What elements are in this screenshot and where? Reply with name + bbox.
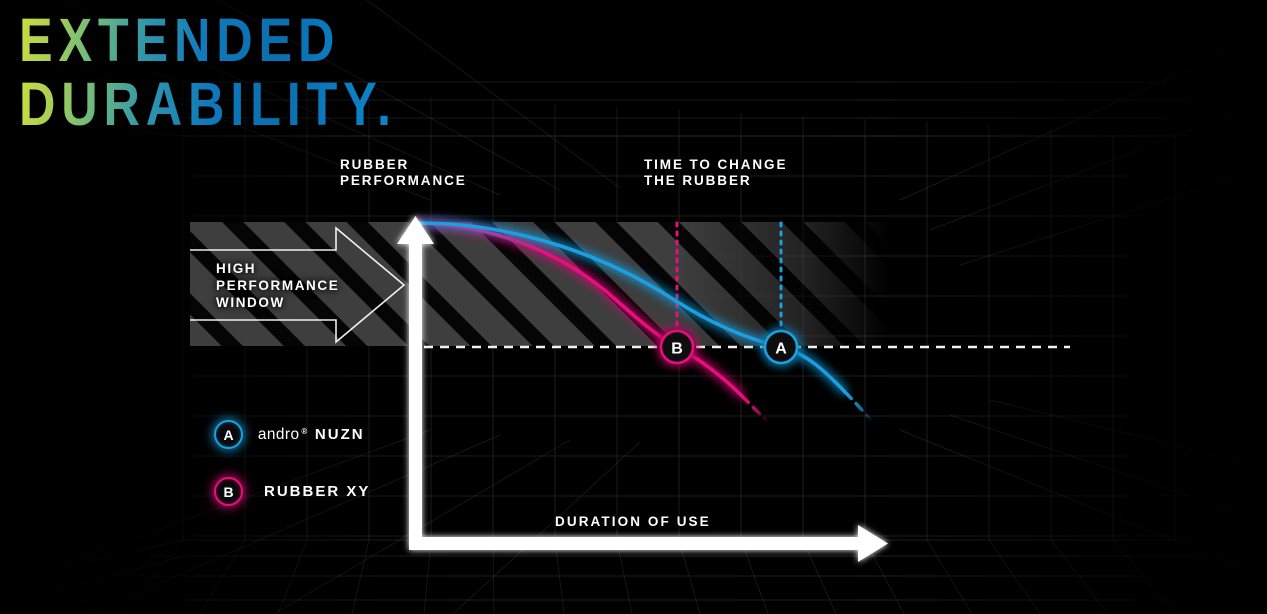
svg-text:A: A	[775, 341, 787, 358]
legend-item-rubber-xy[interactable]: B RUBBER XY	[214, 477, 370, 506]
legend-model-name: RUBBER XY	[264, 483, 370, 500]
time-to-change-label: TIME TO CHANGE THE RUBBER	[644, 157, 787, 189]
legend-label-andro-nuzn: andro®NUZN	[257, 426, 365, 444]
marker-b[interactable]: B	[661, 331, 693, 363]
high-performance-window-label: HIGH PERFORMANCE WINDOW	[216, 260, 339, 311]
headline-line-1: EXTENDED	[19, 14, 397, 70]
legend-model-name: NUZN	[315, 426, 365, 443]
svg-text:B: B	[671, 341, 683, 358]
brand-name: andro	[258, 426, 300, 444]
series-tail-andro-nuzn	[845, 392, 872, 421]
legend-badge-a: A	[214, 420, 243, 449]
registered-trademark-icon: ®	[301, 427, 309, 436]
marker-a[interactable]: A	[765, 331, 797, 363]
headline-line-2: DURABILITY.	[19, 78, 397, 134]
legend-item-andro-nuzn[interactable]: A andro®NUZN	[214, 420, 365, 449]
infographic-canvas: B A EXTENDED DURABILITY. RUBBER PERFORMA…	[0, 0, 1267, 614]
chart-axes	[397, 216, 888, 562]
legend-label-rubber-xy: RUBBER XY	[257, 483, 370, 500]
series-tail-rubber-xy	[742, 396, 768, 422]
headline: EXTENDED DURABILITY.	[19, 14, 409, 126]
legend-badge-b: B	[214, 477, 243, 506]
y-axis-label: RUBBER PERFORMANCE	[340, 157, 467, 189]
x-axis-label: DURATION OF USE	[555, 514, 711, 530]
